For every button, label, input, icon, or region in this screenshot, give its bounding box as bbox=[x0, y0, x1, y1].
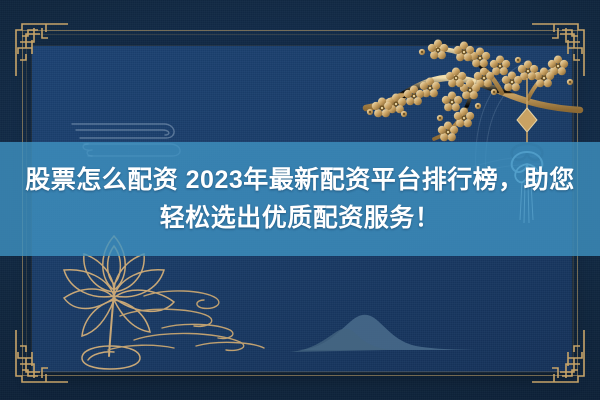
caption-band: 股票怎么配资 2023年最新配资平台排行榜，助您轻松选出优质配资服务！ bbox=[0, 142, 600, 256]
page-title: 股票怎么配资 2023年最新配资平台排行榜，助您轻松选出优质配资服务！ bbox=[20, 161, 580, 237]
promo-banner: 股票怎么配资 2023年最新配资平台排行榜，助您轻松选出优质配资服务！ bbox=[0, 0, 600, 400]
